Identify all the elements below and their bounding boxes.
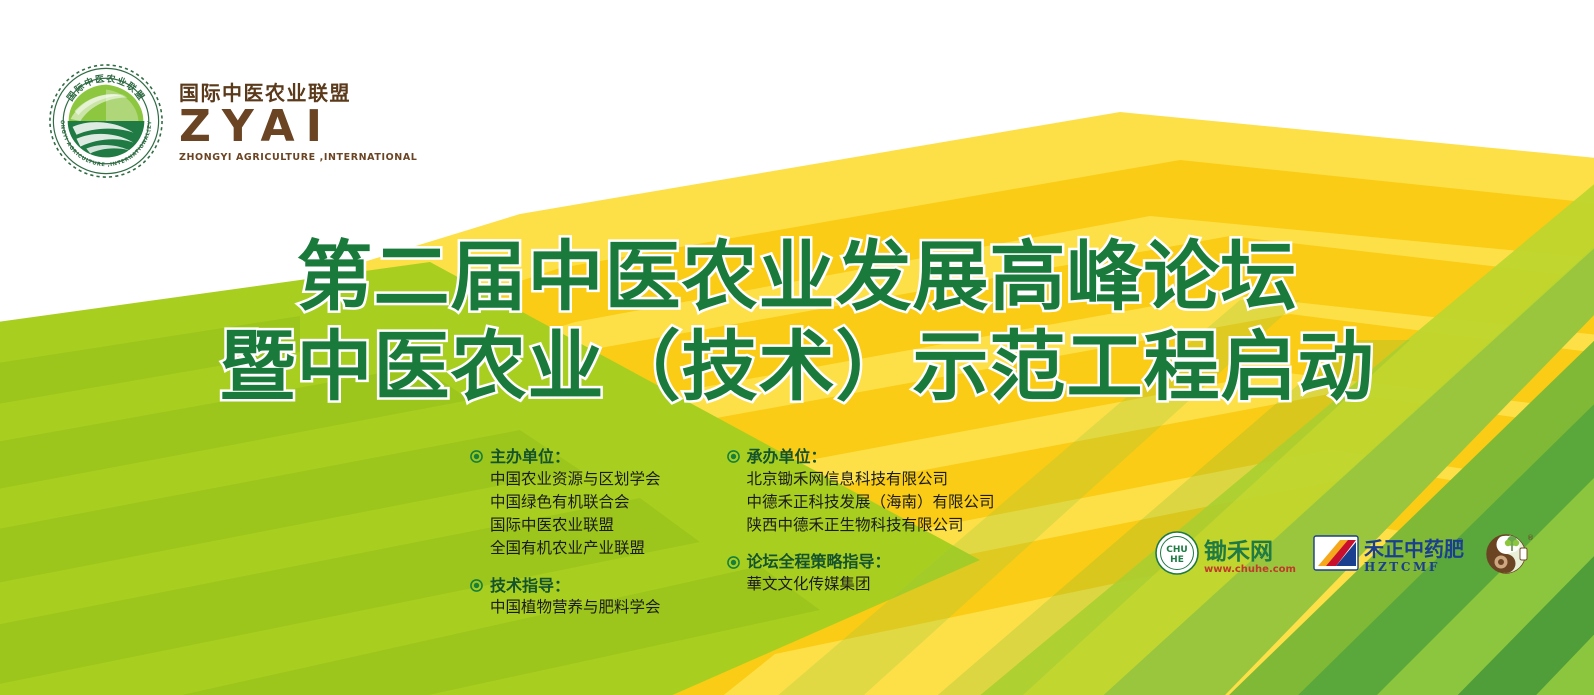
credit-heading-row: 主办单位： — [470, 446, 661, 468]
credit-item-list: 中国农业资源与区划学会 中国绿色有机联合会 国际中医农业联盟 全国有机农业产业联… — [470, 468, 661, 561]
logo-name-en: ZHONGYI AGRICULTURE ,INTERNATIONAL — [179, 152, 417, 163]
credit-item-list: 華文文化传媒集团 — [727, 573, 995, 596]
ring-bullet-icon — [727, 450, 740, 463]
list-item: 中德禾正科技发展（海南）有限公司 — [747, 491, 995, 514]
list-item: 国际中医农业联盟 — [490, 514, 661, 537]
credit-heading-row: 技术指导： — [470, 575, 661, 597]
sponsor-hztcmf: 禾正中药肥 ® HZTCMF — [1312, 528, 1472, 578]
credits-column-left: 主办单位： 中国农业资源与区划学会 中国绿色有机联合会 国际中医农业联盟 全国有… — [470, 446, 661, 619]
list-item: 北京锄禾网信息科技有限公司 — [747, 468, 995, 491]
sponsor-name-cn: 禾正中药肥 — [1364, 537, 1464, 561]
sponsor-logo-strip: CHU HE 锄禾网 www.chuhe.com 禾正中药肥 ® HZTCMF — [1152, 528, 1538, 578]
logo-wordmark: 国际中医农业联盟 ZYAI ZHONGYI AGRICULTURE ,INTER… — [179, 79, 417, 164]
credits-block: 主办单位： 中国农业资源与区划学会 中国绿色有机联合会 国际中医农业联盟 全国有… — [470, 446, 995, 619]
list-item: 中国植物营养与肥料学会 — [490, 596, 661, 619]
credit-heading-label: 论坛全程策略指导： — [747, 551, 891, 573]
hzt-z-mark-icon: 禾正中药肥 ® HZTCMF — [1312, 528, 1472, 578]
credit-group-strategy-guidance: 论坛全程策略指导： 華文文化传媒集团 — [727, 551, 995, 596]
ring-bullet-icon — [470, 450, 483, 463]
sponsor-chuhe: CHU HE 锄禾网 www.chuhe.com — [1152, 528, 1302, 578]
tree-taiji-seal-icon: ® — [1482, 528, 1538, 578]
list-item: 華文文化传媒集团 — [747, 573, 995, 596]
credit-heading-label: 技术指导： — [490, 575, 570, 597]
sponsor-acronym: HZTCMF — [1364, 560, 1440, 574]
zyai-circular-emblem-icon: 国际中医农业联盟 ZHONGYI AGRICULTURE ,INTERNATIO… — [47, 62, 165, 180]
sponsor-name-cn: 锄禾网 — [1204, 538, 1273, 565]
credit-heading-label: 主办单位： — [490, 446, 570, 468]
credit-heading-row: 承办单位： — [727, 446, 995, 468]
ring-bullet-icon — [727, 556, 740, 569]
logo-acronym: ZYAI — [179, 105, 417, 150]
list-item: 中国农业资源与区划学会 — [490, 468, 661, 491]
credit-heading-row: 论坛全程策略指导： — [727, 551, 995, 573]
sponsor-tree-seal: ® — [1482, 528, 1538, 578]
event-banner: 国际中医农业联盟 ZHONGYI AGRICULTURE ,INTERNATIO… — [0, 0, 1594, 695]
list-item: 中国绿色有机联合会 — [490, 491, 661, 514]
credit-group-technical-guidance: 技术指导： 中国植物营养与肥料学会 — [470, 575, 661, 620]
trademark-symbol: ® — [1527, 534, 1534, 542]
organization-logo-block: 国际中医农业联盟 ZHONGYI AGRICULTURE ,INTERNATIO… — [47, 62, 417, 180]
sponsor-url: www.chuhe.com — [1204, 564, 1296, 575]
credit-group-hosts: 承办单位： 北京锄禾网信息科技有限公司 中德禾正科技发展（海南）有限公司 陕西中… — [727, 446, 995, 537]
credit-item-list: 中国植物营养与肥料学会 — [470, 596, 661, 619]
credits-column-right: 承办单位： 北京锄禾网信息科技有限公司 中德禾正科技发展（海南）有限公司 陕西中… — [727, 446, 995, 619]
svg-text:CHU: CHU — [1166, 545, 1187, 555]
svg-text:HE: HE — [1170, 555, 1184, 565]
list-item: 全国有机农业产业联盟 — [490, 537, 661, 560]
credit-group-organizers: 主办单位： 中国农业资源与区划学会 中国绿色有机联合会 国际中医农业联盟 全国有… — [470, 446, 661, 561]
credit-item-list: 北京锄禾网信息科技有限公司 中德禾正科技发展（海南）有限公司 陕西中德禾正生物科… — [727, 468, 995, 538]
chuhe-seal-icon: CHU HE 锄禾网 www.chuhe.com — [1152, 528, 1302, 578]
list-item: 陕西中德禾正生物科技有限公司 — [747, 514, 995, 537]
ring-bullet-icon — [470, 579, 483, 592]
credit-heading-label: 承办单位： — [747, 446, 827, 468]
trademark-symbol: ® — [1456, 537, 1464, 546]
